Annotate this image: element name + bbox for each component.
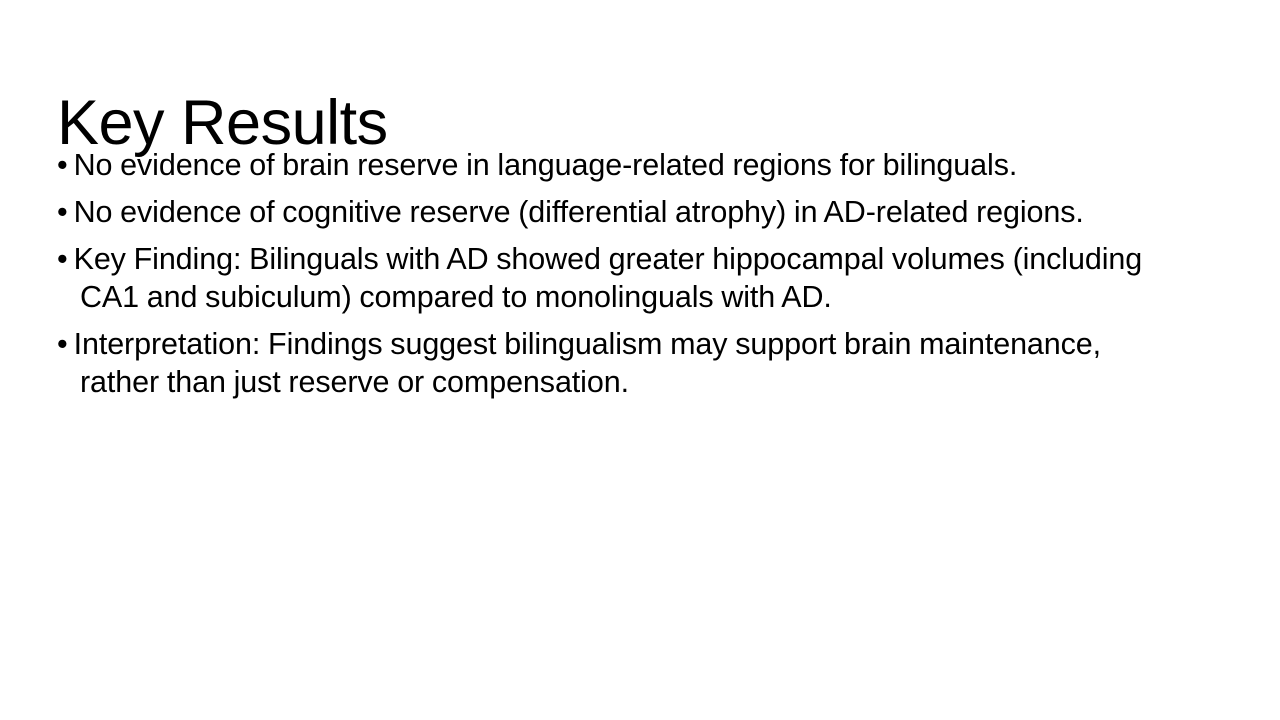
list-item-text: No evidence of cognitive reserve (differ…	[74, 195, 1084, 229]
list-item-text: Interpretation: Findings suggest bilingu…	[74, 327, 1101, 399]
slide-canvas: Key Results •No evidence of brain reserv…	[0, 0, 1280, 720]
list-item: •No evidence of brain reserve in languag…	[57, 146, 1167, 184]
list-item: •Interpretation: Findings suggest biling…	[57, 325, 1167, 401]
bullet-icon: •	[57, 195, 68, 229]
list-item-text: No evidence of brain reserve in language…	[74, 148, 1018, 182]
bullet-icon: •	[57, 148, 68, 182]
list-item: •No evidence of cognitive reserve (diffe…	[57, 193, 1167, 231]
bullet-icon: •	[57, 242, 68, 276]
list-item: •Key Finding: Bilinguals with AD showed …	[57, 240, 1167, 316]
list-item-text: Key Finding: Bilinguals with AD showed g…	[74, 242, 1143, 314]
bullet-icon: •	[57, 327, 68, 361]
bullet-list: •No evidence of brain reserve in languag…	[57, 146, 1167, 401]
